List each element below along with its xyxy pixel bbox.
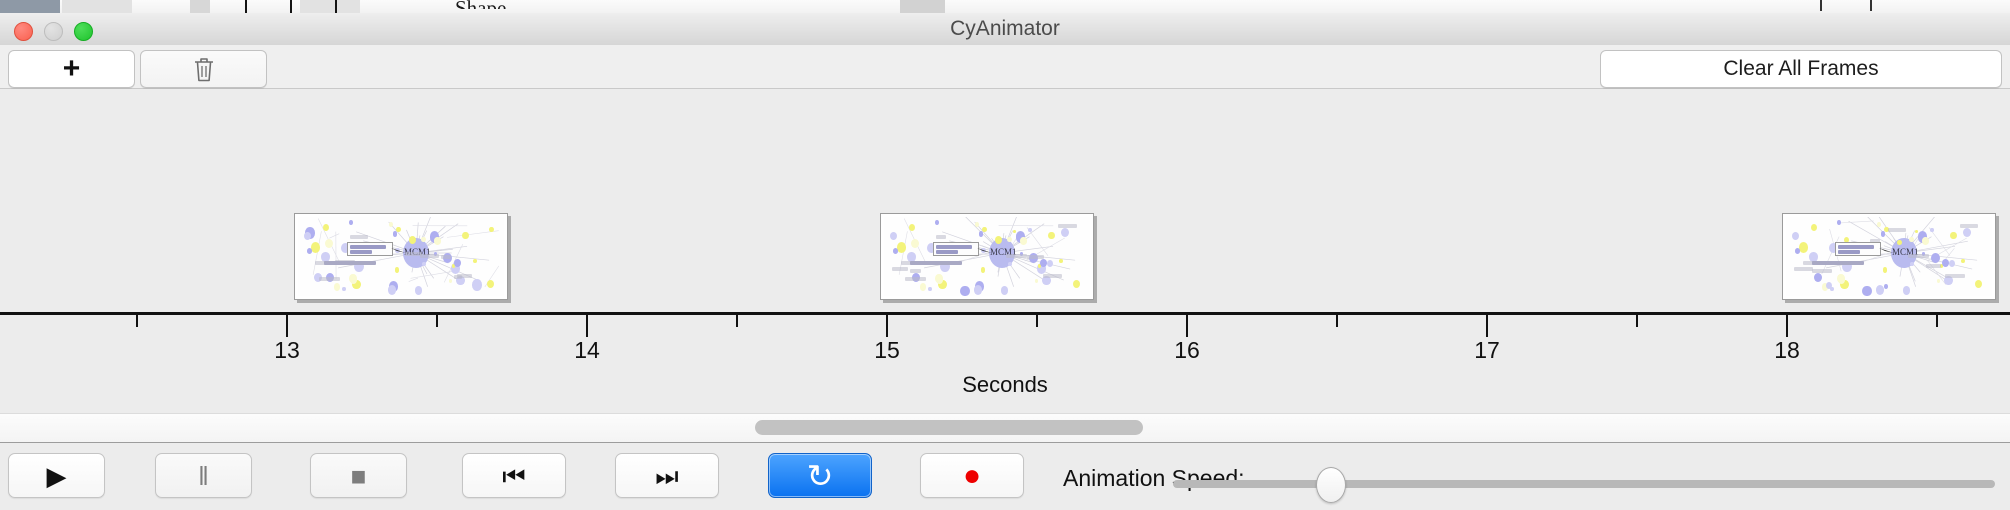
axis-tick-minor <box>736 315 738 327</box>
play-icon: ▶ <box>47 463 67 489</box>
background-chunk-b <box>190 0 210 13</box>
axis-tick-major <box>586 315 588 337</box>
axis-tick-label: 18 <box>1774 337 1800 364</box>
record-button[interactable]: ● <box>920 453 1024 498</box>
axis-tick-major <box>886 315 888 337</box>
axis-tick-major <box>1486 315 1488 337</box>
tooltip-pointer <box>298 217 504 296</box>
timeline-frame[interactable]: MCM1 <box>880 213 1094 300</box>
delete-frame-button[interactable] <box>140 50 267 88</box>
axis-tick-minor <box>1636 315 1638 327</box>
axis-tick-minor <box>1036 315 1038 327</box>
loop-button[interactable]: ↻ <box>768 453 872 498</box>
network-annotation <box>1812 261 1864 265</box>
background-tick-e <box>1870 0 1872 11</box>
clear-all-frames-label: Clear All Frames <box>1723 57 1878 81</box>
background-window-selection <box>0 0 60 13</box>
background-tick-b <box>290 0 292 13</box>
axis-tick-label: 13 <box>274 337 300 364</box>
axis-tick-major <box>1786 315 1788 337</box>
horizontal-scrollbar[interactable] <box>0 413 2010 444</box>
title-bar: CyAnimator <box>0 13 2010 46</box>
network-annotation <box>324 261 376 265</box>
axis-tick-major <box>1186 315 1188 337</box>
background-window-sliver: Shape <box>0 0 2010 14</box>
plus-icon: + <box>63 54 81 84</box>
background-tick-d <box>1820 0 1822 11</box>
axis-tick-minor <box>1336 315 1338 327</box>
skip-forward-icon: ⏭ <box>655 463 678 489</box>
axis-tick-label: 15 <box>874 337 900 364</box>
background-window-text: Shape <box>455 0 506 9</box>
background-chunk-a <box>62 0 132 13</box>
skip-to-end-button[interactable]: ⏭ <box>615 453 719 498</box>
window-title: CyAnimator <box>0 13 2010 45</box>
timeline-frame[interactable]: MCM1 <box>1782 213 1996 300</box>
timeline-axis <box>0 312 2010 315</box>
axis-tick-label: 14 <box>574 337 600 364</box>
timeline-panel[interactable]: MCM1MCM1MCM1 12131415161718 Seconds <box>0 89 2010 413</box>
clear-all-frames-button[interactable]: Clear All Frames <box>1600 50 2002 88</box>
background-chunk-d <box>900 0 945 13</box>
background-tick-c <box>335 0 337 13</box>
axis-tick-label: 16 <box>1174 337 1200 364</box>
playback-bar: ▶‖■⏮⏭↻● Animation Speed: <box>0 443 2010 510</box>
axis-title: Seconds <box>0 372 2010 398</box>
pause-icon: ‖ <box>198 463 209 489</box>
timeline-frame[interactable]: MCM1 <box>294 213 508 300</box>
axis-tick-label: 17 <box>1474 337 1500 364</box>
cyanimator-window: Shape CyAnimator + Clear All Frames MCM1… <box>0 0 2010 510</box>
record-icon: ● <box>963 461 981 491</box>
axis-tick-minor <box>1936 315 1938 327</box>
axis-tick-minor <box>136 315 138 327</box>
stop-icon: ■ <box>351 463 367 489</box>
add-frame-button[interactable]: + <box>8 50 135 88</box>
axis-tick-minor <box>436 315 438 327</box>
pause-button[interactable]: ‖ <box>155 453 252 498</box>
loop-icon: ↻ <box>807 460 834 492</box>
background-tick-a <box>245 0 247 13</box>
stop-button[interactable]: ■ <box>310 453 407 498</box>
scrollbar-thumb[interactable] <box>755 420 1143 435</box>
tooltip-pointer <box>884 217 1090 296</box>
network-annotation <box>910 261 962 265</box>
play-button[interactable]: ▶ <box>8 453 105 498</box>
axis-tick-major <box>286 315 288 337</box>
tooltip-pointer <box>1786 217 1992 296</box>
toolbar: + Clear All Frames <box>0 45 2010 89</box>
trash-icon <box>192 55 216 83</box>
animation-speed-thumb[interactable] <box>1316 467 1346 503</box>
animation-speed-slider[interactable] <box>1173 480 1995 488</box>
skip-back-icon: ⏮ <box>502 463 525 489</box>
skip-to-start-button[interactable]: ⏮ <box>462 453 566 498</box>
background-chunk-c <box>300 0 360 13</box>
